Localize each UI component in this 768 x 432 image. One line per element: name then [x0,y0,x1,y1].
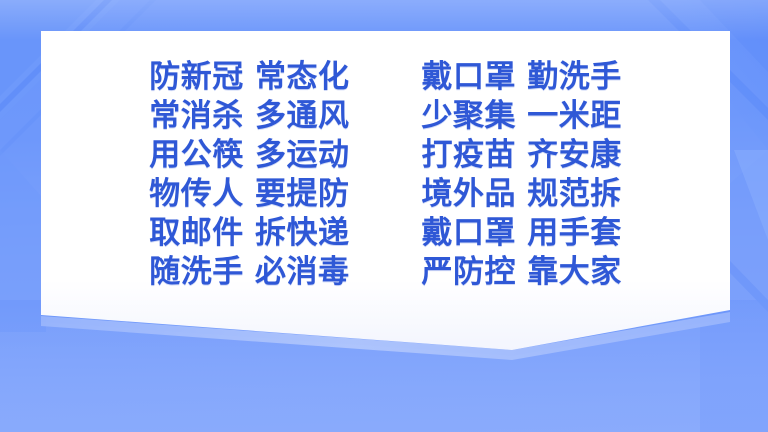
slogan-line: 打疫苗 齐安康 [422,136,622,175]
left-column: 防新冠 常态化 常消杀 多通风 用公筷 多运动 物传人 要提防 取邮件 拆快递 … [149,58,349,292]
right-column: 戴口罩 勤洗手 少聚集 一米距 打疫苗 齐安康 境外品 规范拆 戴口罩 用手套 … [422,58,622,292]
slogan-line: 戴口罩 勤洗手 [422,58,622,97]
slogan-line: 严防控 靠大家 [422,253,622,292]
slogan-line: 取邮件 拆快递 [149,214,349,253]
slogan-line: 防新冠 常态化 [149,58,349,97]
slogan-line: 境外品 规范拆 [422,175,622,214]
slogan-line: 戴口罩 用手套 [422,214,622,253]
slogan-line: 常消杀 多通风 [149,97,349,136]
slogan-text-block: 防新冠 常态化 常消杀 多通风 用公筷 多运动 物传人 要提防 取邮件 拆快递 … [41,31,730,315]
slogan-columns: 防新冠 常态化 常消杀 多通风 用公筷 多运动 物传人 要提防 取邮件 拆快递 … [149,58,622,292]
slogan-line: 随洗手 必消毒 [149,253,349,292]
slogan-line: 少聚集 一米距 [422,97,622,136]
slogan-line: 用公筷 多运动 [149,136,349,175]
poster-canvas: 防新冠 常态化 常消杀 多通风 用公筷 多运动 物传人 要提防 取邮件 拆快递 … [0,0,768,432]
slogan-line: 物传人 要提防 [149,175,349,214]
